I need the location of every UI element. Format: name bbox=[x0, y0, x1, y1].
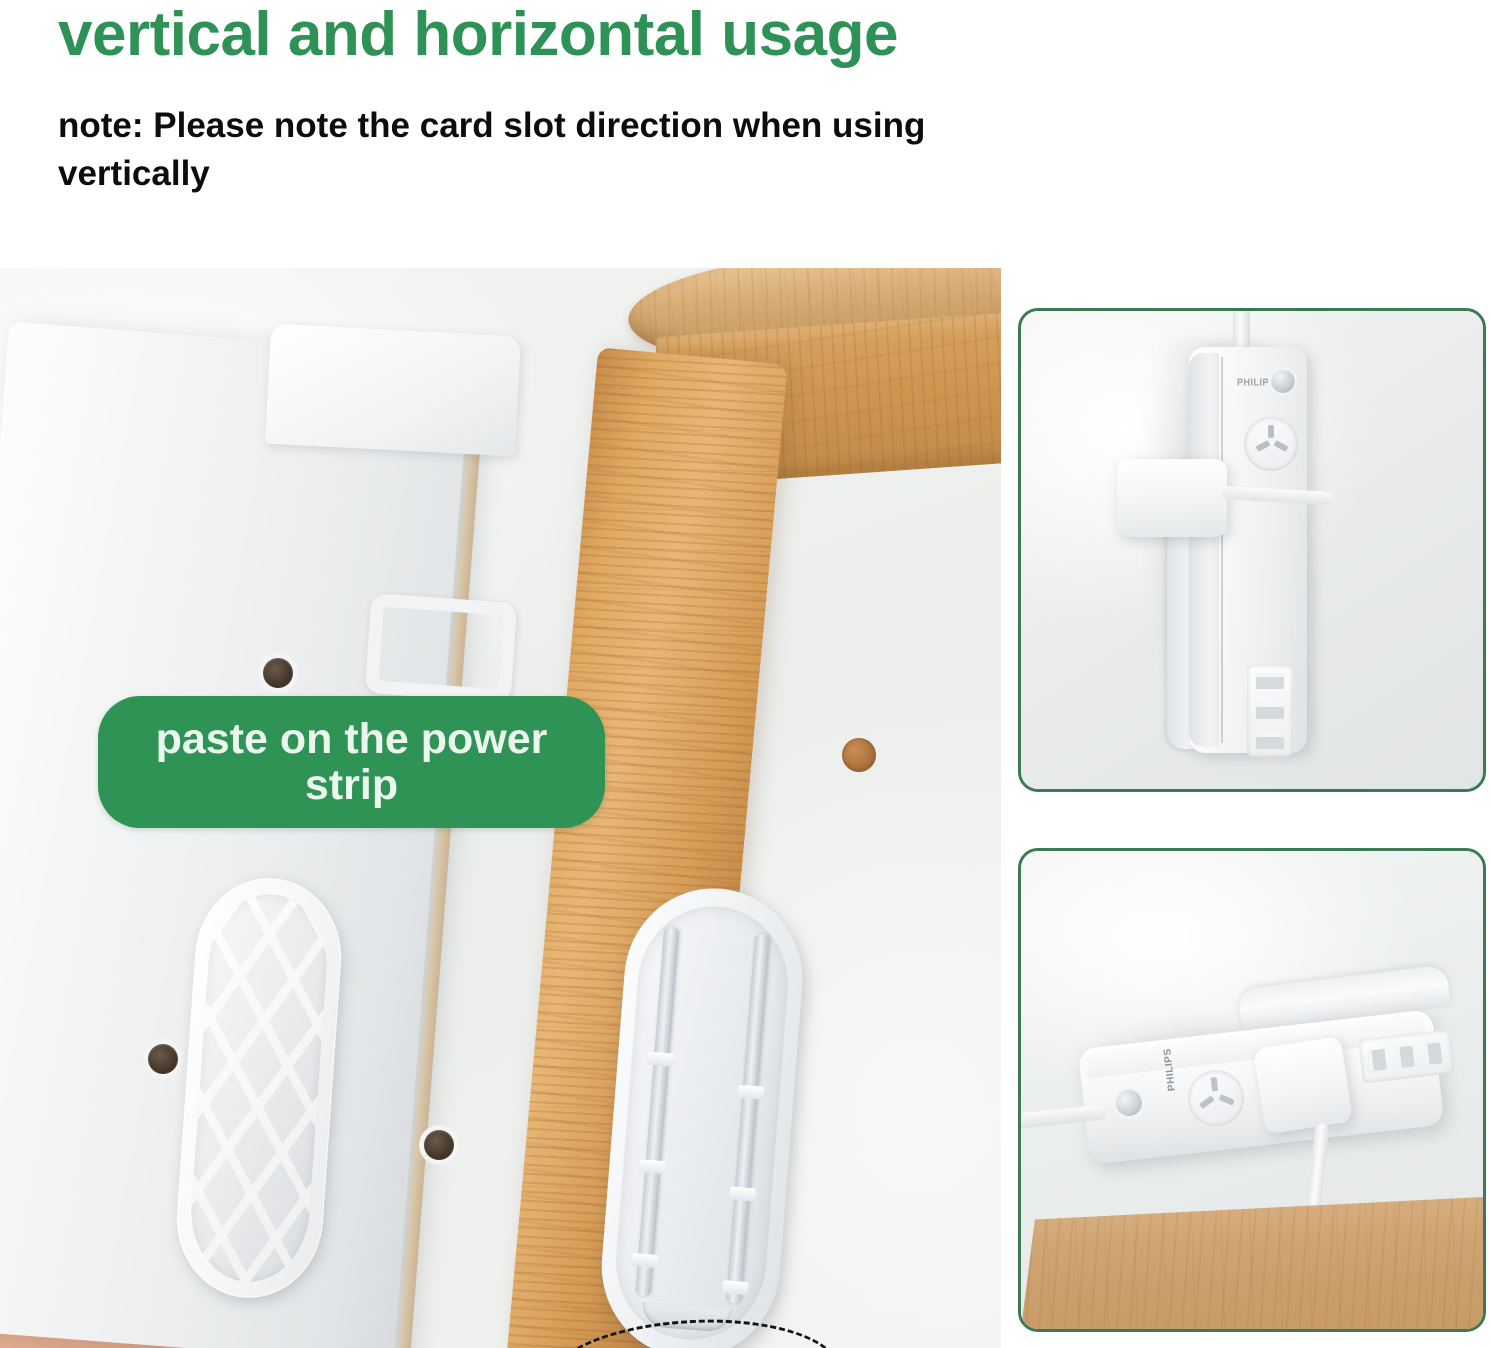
usb-port bbox=[1368, 1049, 1387, 1072]
card-slot-rail bbox=[635, 926, 679, 1296]
philips-logo: PHILIPS bbox=[1237, 377, 1276, 388]
usb-port-group bbox=[1247, 665, 1293, 757]
power-switch bbox=[1115, 1089, 1144, 1118]
usb-port bbox=[1256, 673, 1284, 689]
card-slot-rail bbox=[726, 934, 770, 1304]
usb-charger-plug bbox=[1117, 459, 1227, 537]
usb-port bbox=[1423, 1042, 1442, 1065]
usb-port-group bbox=[1358, 1029, 1454, 1083]
power-switch bbox=[1271, 369, 1295, 393]
screw bbox=[424, 1130, 454, 1160]
wooden-desk-edge bbox=[1021, 1197, 1483, 1329]
header: vertical and horizontal usage note: Plea… bbox=[0, 0, 1491, 266]
screw bbox=[148, 1044, 178, 1074]
note-text: note: Please note the card slot directio… bbox=[58, 102, 1038, 199]
power-strip-top-cap bbox=[265, 324, 521, 457]
usb-port bbox=[1256, 733, 1284, 749]
panel-horizontal-usage: PHILIPS bbox=[1018, 848, 1486, 1332]
usb-port bbox=[1395, 1046, 1414, 1069]
usb-charger-plug bbox=[1253, 1036, 1353, 1134]
page-title: vertical and horizontal usage bbox=[58, 4, 898, 66]
main-demo-photo: card slot paste on the power strip attac… bbox=[0, 268, 1001, 1348]
power-strip-vertical: PHILIPS bbox=[1189, 347, 1307, 753]
adhesive-mount-lattice bbox=[172, 873, 347, 1302]
usb-port bbox=[1256, 703, 1284, 719]
screw bbox=[263, 658, 293, 688]
panel-vertical-usage: PHILIPS bbox=[1018, 308, 1486, 792]
stool-peg bbox=[842, 738, 876, 772]
badge-paste-on-power-strip: paste on the power strip bbox=[98, 696, 605, 828]
ac-socket bbox=[1244, 417, 1298, 471]
ac-socket bbox=[1185, 1067, 1247, 1129]
power-strip-hanger-tab bbox=[365, 593, 518, 703]
